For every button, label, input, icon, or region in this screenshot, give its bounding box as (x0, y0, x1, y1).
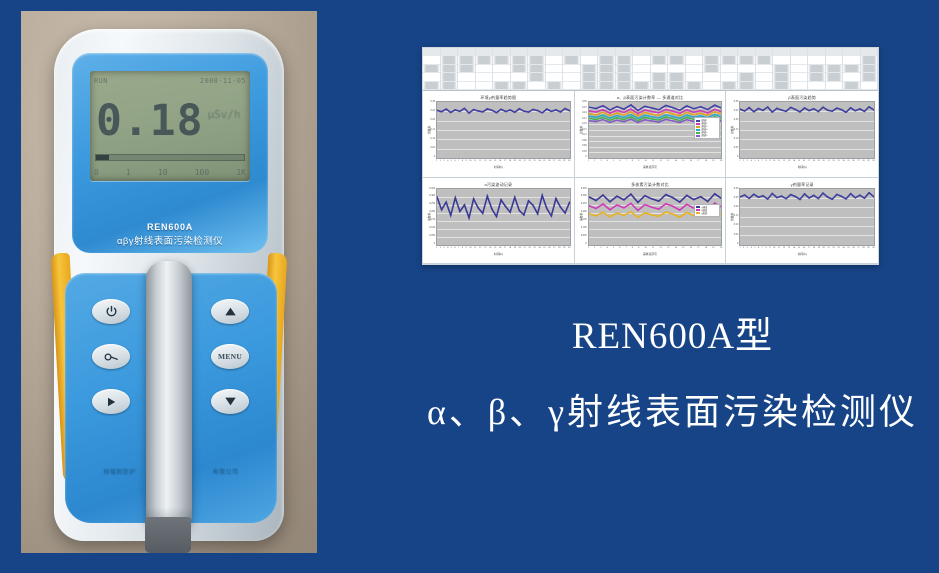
chart-data-point (564, 212, 565, 213)
spreadsheet-cell[interactable] (686, 56, 703, 64)
chart-data-point (546, 108, 547, 109)
chart-data-point (589, 213, 590, 214)
spreadsheet-cell[interactable] (493, 48, 510, 56)
spreadsheet-cell[interactable] (458, 56, 475, 64)
spreadsheet-cell[interactable] (826, 73, 843, 81)
chart-data-point (445, 108, 446, 109)
chart-data-point (700, 106, 701, 107)
spreadsheet-column[interactable] (756, 48, 774, 90)
spreadsheet-column[interactable] (843, 48, 861, 90)
spreadsheet-cell[interactable] (598, 65, 615, 73)
power-button[interactable] (92, 299, 130, 324)
spreadsheet-cell[interactable] (633, 56, 650, 64)
spreadsheet-cell[interactable] (458, 48, 475, 56)
chart-title: 环境γ剂量率趋势图 (426, 94, 571, 101)
chart-data-point (589, 113, 590, 114)
chart-data-point (623, 214, 624, 215)
spreadsheet-cell[interactable] (581, 73, 598, 81)
chart-y-tick: 0.100 (581, 227, 587, 230)
spreadsheet-cell[interactable] (598, 73, 615, 81)
spreadsheet-column[interactable] (563, 48, 581, 90)
device-probe-connector (145, 517, 191, 553)
spreadsheet-cell[interactable] (511, 82, 528, 90)
spreadsheet-column[interactable] (441, 48, 459, 90)
spreadsheet-cell[interactable] (756, 73, 773, 81)
spreadsheet-cell[interactable] (826, 56, 843, 64)
chart-data-point (651, 113, 652, 114)
chart-data-point (772, 192, 773, 193)
chart-data-point (609, 117, 610, 118)
spreadsheet-cell[interactable] (581, 82, 598, 90)
spreadsheet-cell[interactable] (738, 48, 755, 56)
spreadsheet-cell[interactable] (651, 48, 668, 56)
chart-data-point (679, 118, 680, 119)
spreadsheet-cell[interactable] (476, 82, 493, 90)
chart-panel: 环境γ剂量率趋势图剂量率0.300.250.200.150.100.050123… (423, 91, 575, 178)
spreadsheet-cell[interactable] (861, 82, 878, 90)
chart-y-tick: 0.200 (429, 211, 435, 214)
chart-data-point (658, 121, 659, 122)
chart-y-tick: 0.250 (429, 203, 435, 206)
chart-y-tick: 0.15 (734, 129, 739, 132)
spreadsheet-cell[interactable] (773, 48, 790, 56)
chart-data-point (679, 201, 680, 202)
chart-title: α污染波动记录 (426, 181, 571, 188)
chart-data-point (818, 111, 819, 112)
chart-y-axis: 0.300.270.240.210.180.150.120.090.060.03… (578, 101, 588, 159)
spreadsheet-cell[interactable] (598, 56, 615, 64)
chart-y-tick: 0.09 (582, 140, 587, 143)
chart-data-point (482, 111, 483, 112)
spreadsheet-column[interactable] (616, 48, 634, 90)
spreadsheet-cell[interactable] (493, 56, 510, 64)
spreadsheet-cell[interactable] (441, 48, 458, 56)
spreadsheet-cell[interactable] (686, 48, 703, 56)
spreadsheet-column[interactable] (651, 48, 669, 90)
spreadsheet-column[interactable] (458, 48, 476, 90)
chart-data-point (528, 111, 529, 112)
chart-data-point (487, 108, 488, 109)
spreadsheet-cell[interactable] (843, 73, 860, 81)
spreadsheet-cell[interactable] (791, 73, 808, 81)
chart-data-point (672, 110, 673, 111)
spreadsheet-cell[interactable] (546, 73, 563, 81)
spreadsheet-cell[interactable] (511, 65, 528, 73)
chart-y-tick: 0.10 (734, 224, 739, 227)
chart-y-tick: 0.300 (429, 195, 435, 198)
spreadsheet-cell[interactable] (703, 65, 720, 73)
spreadsheet-cell[interactable] (738, 82, 755, 90)
chart-canvas (436, 101, 571, 159)
power-icon (105, 305, 118, 318)
chart-y-tick: 0.15 (582, 129, 587, 132)
chart-data-point (823, 192, 824, 193)
spreadsheet-cell[interactable] (756, 65, 773, 73)
spreadsheet-cell[interactable] (721, 73, 738, 81)
spreadsheet-cell[interactable] (616, 56, 633, 64)
chart-data-point (510, 109, 511, 110)
spreadsheet-cell[interactable] (528, 56, 545, 64)
chart-data-point (616, 204, 617, 205)
chart-data-point (651, 107, 652, 108)
chart-data-point (637, 201, 638, 202)
lcd-scale-tick: 10 (158, 168, 168, 177)
spreadsheet-cell[interactable] (528, 82, 545, 90)
chart-y-tick: 0.24 (582, 112, 587, 115)
chart-y-tick: 0.05 (734, 147, 739, 150)
chart-data-point (560, 206, 561, 207)
chart-data-point (528, 200, 529, 201)
chart-data-point (616, 212, 617, 213)
spreadsheet-cell[interactable] (651, 82, 668, 90)
chart-legend-swatch (696, 135, 700, 137)
lcd-status-bar: RUN 2008-11-05 (94, 73, 246, 89)
spreadsheet-cell[interactable] (528, 48, 545, 56)
spreadsheet-cell[interactable] (546, 65, 563, 73)
chart-data-point (651, 198, 652, 199)
spreadsheet-cell[interactable] (651, 65, 668, 73)
chart-data-point (569, 201, 570, 202)
spreadsheet-cell[interactable] (721, 82, 738, 90)
spreadsheet-cell[interactable] (616, 48, 633, 56)
chart-data-point (873, 109, 874, 110)
chart-y-tick: 0.30 (430, 101, 435, 104)
spreadsheet-cell[interactable] (651, 73, 668, 81)
chart-data-point (665, 202, 666, 203)
chart-data-point (679, 122, 680, 123)
chart-data-point (589, 196, 590, 197)
spreadsheet-cell[interactable] (756, 56, 773, 64)
spreadsheet-cell[interactable] (686, 82, 703, 90)
spreadsheet-cell[interactable] (738, 56, 755, 64)
spreadsheet-cell[interactable] (528, 73, 545, 81)
chart-data-point (623, 121, 624, 122)
spreadsheet-cell[interactable] (843, 48, 860, 56)
spreadsheet-column[interactable] (686, 48, 704, 90)
chart-data-point (869, 192, 870, 193)
chart-legend: 通道1通道2通道3通道4通道5通道6 (694, 117, 720, 139)
spreadsheet-cell[interactable] (651, 56, 668, 64)
spreadsheet-column[interactable] (721, 48, 739, 90)
spreadsheet-cell[interactable] (458, 82, 475, 90)
spreadsheet-cell[interactable] (791, 48, 808, 56)
spreadsheet-cell[interactable] (423, 65, 440, 73)
spreadsheet-column[interactable] (423, 48, 441, 90)
spreadsheet-cell[interactable] (476, 65, 493, 73)
spreadsheet-cell[interactable] (441, 65, 458, 73)
play-icon (105, 396, 117, 408)
chart-data-point (800, 111, 801, 112)
chart-plot-area: 计数率0.300.270.240.210.180.150.120.090.060… (578, 101, 723, 159)
spreadsheet-cell[interactable] (861, 56, 878, 64)
chart-data-point (818, 197, 819, 198)
chart-data-point (658, 215, 659, 216)
spreadsheet-column[interactable] (476, 48, 494, 90)
chart-data-point (589, 205, 590, 206)
chart-y-tick: 0.05 (430, 147, 435, 150)
chart-y-axis: 0.3500.3000.2500.2000.1500.1000.0500 (426, 188, 436, 246)
spreadsheet-cell[interactable] (546, 48, 563, 56)
spreadsheet-cell[interactable] (703, 82, 720, 90)
spreadsheet-column[interactable] (773, 48, 791, 90)
spreadsheet-cell[interactable] (458, 65, 475, 73)
chart-x-axis-label: 采样点序号 (578, 252, 723, 256)
spreadsheet-cell[interactable] (668, 73, 685, 81)
spreadsheet-cell[interactable] (861, 73, 878, 81)
chart-data-point (637, 110, 638, 111)
chart-y-tick: 0.30 (734, 101, 739, 104)
chart-data-point (542, 194, 543, 195)
spreadsheet-cell[interactable] (581, 65, 598, 73)
spreadsheet-cell[interactable] (441, 82, 458, 90)
spreadsheet-column[interactable] (598, 48, 616, 90)
spreadsheet-cell[interactable] (861, 48, 878, 56)
up-button[interactable] (211, 299, 249, 324)
spreadsheet-cell[interactable] (843, 65, 860, 73)
chart-data-point (455, 109, 456, 110)
chart-data-point (644, 212, 645, 213)
chart-data-point (637, 209, 638, 210)
chart-data-point (860, 108, 861, 109)
spreadsheet-cell[interactable] (668, 48, 685, 56)
chart-data-point (477, 207, 478, 208)
spreadsheet-cell[interactable] (738, 65, 755, 73)
spreadsheet-cell[interactable] (598, 82, 615, 90)
spreadsheet-column[interactable] (703, 48, 721, 90)
spreadsheet-column[interactable] (511, 48, 529, 90)
spreadsheet-cell[interactable] (633, 48, 650, 56)
spreadsheet-cell[interactable] (441, 56, 458, 64)
chart-data-point (860, 194, 861, 195)
spreadsheet-column[interactable] (791, 48, 809, 90)
chart-data-point (869, 106, 870, 107)
chart-data-point (686, 114, 687, 115)
spreadsheet-cell[interactable] (686, 73, 703, 81)
chart-data-point (500, 109, 501, 110)
spreadsheet-cell[interactable] (546, 82, 563, 90)
spreadsheet-column[interactable] (581, 48, 599, 90)
chart-data-point (686, 194, 687, 195)
spreadsheet-cell[interactable] (476, 73, 493, 81)
chart-data-point (450, 112, 451, 113)
spreadsheet-column[interactable] (861, 48, 879, 90)
spreadsheet-cell[interactable] (441, 73, 458, 81)
spreadsheet-cell[interactable] (808, 73, 825, 81)
chart-data-point (477, 110, 478, 111)
spreadsheet-cell[interactable] (721, 56, 738, 64)
spreadsheet-column[interactable] (808, 48, 826, 90)
spreadsheet-cell[interactable] (686, 65, 703, 73)
spreadsheet-cell[interactable] (511, 73, 528, 81)
spreadsheet-cell[interactable] (791, 65, 808, 73)
menu-button[interactable]: MENU (211, 344, 249, 369)
chart-data-point (809, 110, 810, 111)
spreadsheet-cell[interactable] (563, 56, 580, 64)
chart-data-point (644, 203, 645, 204)
chart-data-point (841, 109, 842, 110)
spreadsheet-cell[interactable] (546, 56, 563, 64)
chart-y-tick: 0.200 (581, 211, 587, 214)
chart-y-tick: 0.050 (581, 235, 587, 238)
spreadsheet-column[interactable] (826, 48, 844, 90)
spreadsheet-cell[interactable] (861, 65, 878, 73)
spreadsheet-column[interactable] (738, 48, 756, 90)
spreadsheet-cell[interactable] (423, 73, 440, 81)
spreadsheet-cell[interactable] (493, 82, 510, 90)
chart-data-point (721, 120, 722, 121)
chart-data-point (665, 109, 666, 110)
chart-canvas (739, 188, 875, 246)
spreadsheet-cell[interactable] (808, 56, 825, 64)
search-button[interactable] (92, 344, 130, 369)
spreadsheet-cell[interactable] (528, 65, 545, 73)
chart-data-point (836, 193, 837, 194)
chart-data-point (569, 110, 570, 111)
chart-y-tick: 0.20 (734, 206, 739, 209)
spreadsheet-cell[interactable] (808, 48, 825, 56)
chart-data-point (616, 106, 617, 107)
spreadsheet-cell[interactable] (808, 82, 825, 90)
device-print-left: 核辐射防护 (103, 467, 136, 476)
chart-data-point (693, 108, 694, 109)
spreadsheet-cell[interactable] (843, 82, 860, 90)
chart-data-point (855, 110, 856, 111)
spreadsheet-cell[interactable] (458, 73, 475, 81)
chart-data-point (658, 112, 659, 113)
chart-data-point (665, 116, 666, 117)
chart-y-tick: 0.25 (430, 110, 435, 113)
spreadsheet-cell[interactable] (721, 65, 738, 73)
product-model-title: REN600A型 (420, 318, 925, 357)
chart-data-point (602, 114, 603, 115)
chart-data-point (658, 115, 659, 116)
spreadsheet-cell[interactable] (773, 56, 790, 64)
spreadsheet-cell[interactable] (738, 73, 755, 81)
spreadsheet-cell[interactable] (493, 73, 510, 81)
chart-data-point (644, 194, 645, 195)
chart-data-point (672, 196, 673, 197)
chart-data-point (707, 115, 708, 116)
spreadsheet-cell[interactable] (563, 73, 580, 81)
chart-data-point (630, 108, 631, 109)
spreadsheet-cell[interactable] (581, 56, 598, 64)
chart-data-point (721, 206, 722, 207)
chart-series-line (740, 107, 874, 112)
spreadsheet-cell[interactable] (511, 48, 528, 56)
spreadsheet-cell[interactable] (668, 56, 685, 64)
spreadsheet-cell[interactable] (633, 65, 650, 73)
chart-canvas (436, 188, 571, 246)
chart-data-point (595, 119, 596, 120)
chart-panel: β表面污染趋势计数率0.300.250.200.150.100.05012345… (726, 91, 878, 178)
spreadsheet-cell[interactable] (703, 73, 720, 81)
spreadsheet-cell[interactable] (791, 56, 808, 64)
chart-data-point (790, 193, 791, 194)
spreadsheet-cell[interactable] (808, 65, 825, 73)
chart-data-point (630, 116, 631, 117)
spreadsheet-column[interactable] (493, 48, 511, 90)
device-nameplate: REN600A αβγ射线表面污染检测仪 (72, 222, 268, 247)
spreadsheet-cell[interactable] (563, 65, 580, 73)
chart-data-point (855, 197, 856, 198)
spreadsheet-cell[interactable] (791, 82, 808, 90)
spreadsheet-cell[interactable] (668, 65, 685, 73)
chart-data-point (537, 110, 538, 111)
spreadsheet-column[interactable] (633, 48, 651, 90)
spreadsheet-cell[interactable] (756, 48, 773, 56)
spreadsheet-cell[interactable] (423, 82, 440, 90)
chart-data-point (546, 207, 547, 208)
chart-data-point (514, 196, 515, 197)
lcd-scale-tick: 100 (195, 168, 209, 177)
spreadsheet-cell[interactable] (703, 56, 720, 64)
lcd-scale-tick: 1K (236, 168, 246, 177)
play-button[interactable] (92, 389, 130, 414)
spreadsheet-cell[interactable] (511, 56, 528, 64)
spreadsheet-cell[interactable] (721, 48, 738, 56)
chart-x-axis-label: 时间(h) (729, 165, 875, 169)
chart-data-point (609, 120, 610, 121)
chart-data-point (616, 119, 617, 120)
spreadsheet-cell[interactable] (563, 48, 580, 56)
spreadsheet-cell[interactable] (476, 56, 493, 64)
spreadsheet-column[interactable] (546, 48, 564, 90)
spreadsheet-cell[interactable] (668, 82, 685, 90)
spreadsheet-cell[interactable] (773, 82, 790, 90)
spreadsheet-cell[interactable] (773, 73, 790, 81)
spreadsheet-cell[interactable] (616, 65, 633, 73)
spreadsheet-cell[interactable] (476, 48, 493, 56)
chart-data-point (609, 115, 610, 116)
chart-y-tick: 0.12 (582, 134, 587, 137)
chart-series-line (589, 193, 722, 202)
chart-legend-item: γ通道 (696, 212, 718, 215)
spreadsheet-cell[interactable] (773, 65, 790, 73)
chart-data-point (679, 113, 680, 114)
spreadsheet-cell[interactable] (826, 82, 843, 90)
spreadsheet-cell[interactable] (826, 48, 843, 56)
chart-data-point (595, 207, 596, 208)
down-button[interactable] (211, 389, 249, 414)
spreadsheet-cell[interactable] (423, 48, 440, 56)
chart-data-point (714, 193, 715, 194)
spreadsheet-cell[interactable] (756, 82, 773, 90)
spreadsheet-cell[interactable] (598, 48, 615, 56)
spreadsheet-cell[interactable] (843, 56, 860, 64)
chart-data-point (864, 197, 865, 198)
chart-data-point (804, 193, 805, 194)
chart-data-point (740, 108, 741, 109)
spreadsheet-cell[interactable] (703, 48, 720, 56)
spreadsheet-cell[interactable] (633, 73, 650, 81)
spreadsheet-cell[interactable] (633, 82, 650, 90)
chart-data-point (500, 199, 501, 200)
spreadsheet-column[interactable] (668, 48, 686, 90)
spreadsheet-cell[interactable] (581, 48, 598, 56)
spreadsheet-cell[interactable] (423, 56, 440, 64)
spreadsheet-cell[interactable] (563, 82, 580, 90)
spreadsheet-column[interactable] (528, 48, 546, 90)
chart-data-point (763, 194, 764, 195)
spreadsheet-cell[interactable] (616, 82, 633, 90)
chart-data-point (468, 217, 469, 218)
spreadsheet-cell[interactable] (493, 65, 510, 73)
spreadsheet-cell[interactable] (616, 73, 633, 81)
chart-data-point (616, 115, 617, 116)
spreadsheet-cell[interactable] (826, 65, 843, 73)
chart-data-point (665, 105, 666, 106)
chart-data-point (602, 112, 603, 113)
